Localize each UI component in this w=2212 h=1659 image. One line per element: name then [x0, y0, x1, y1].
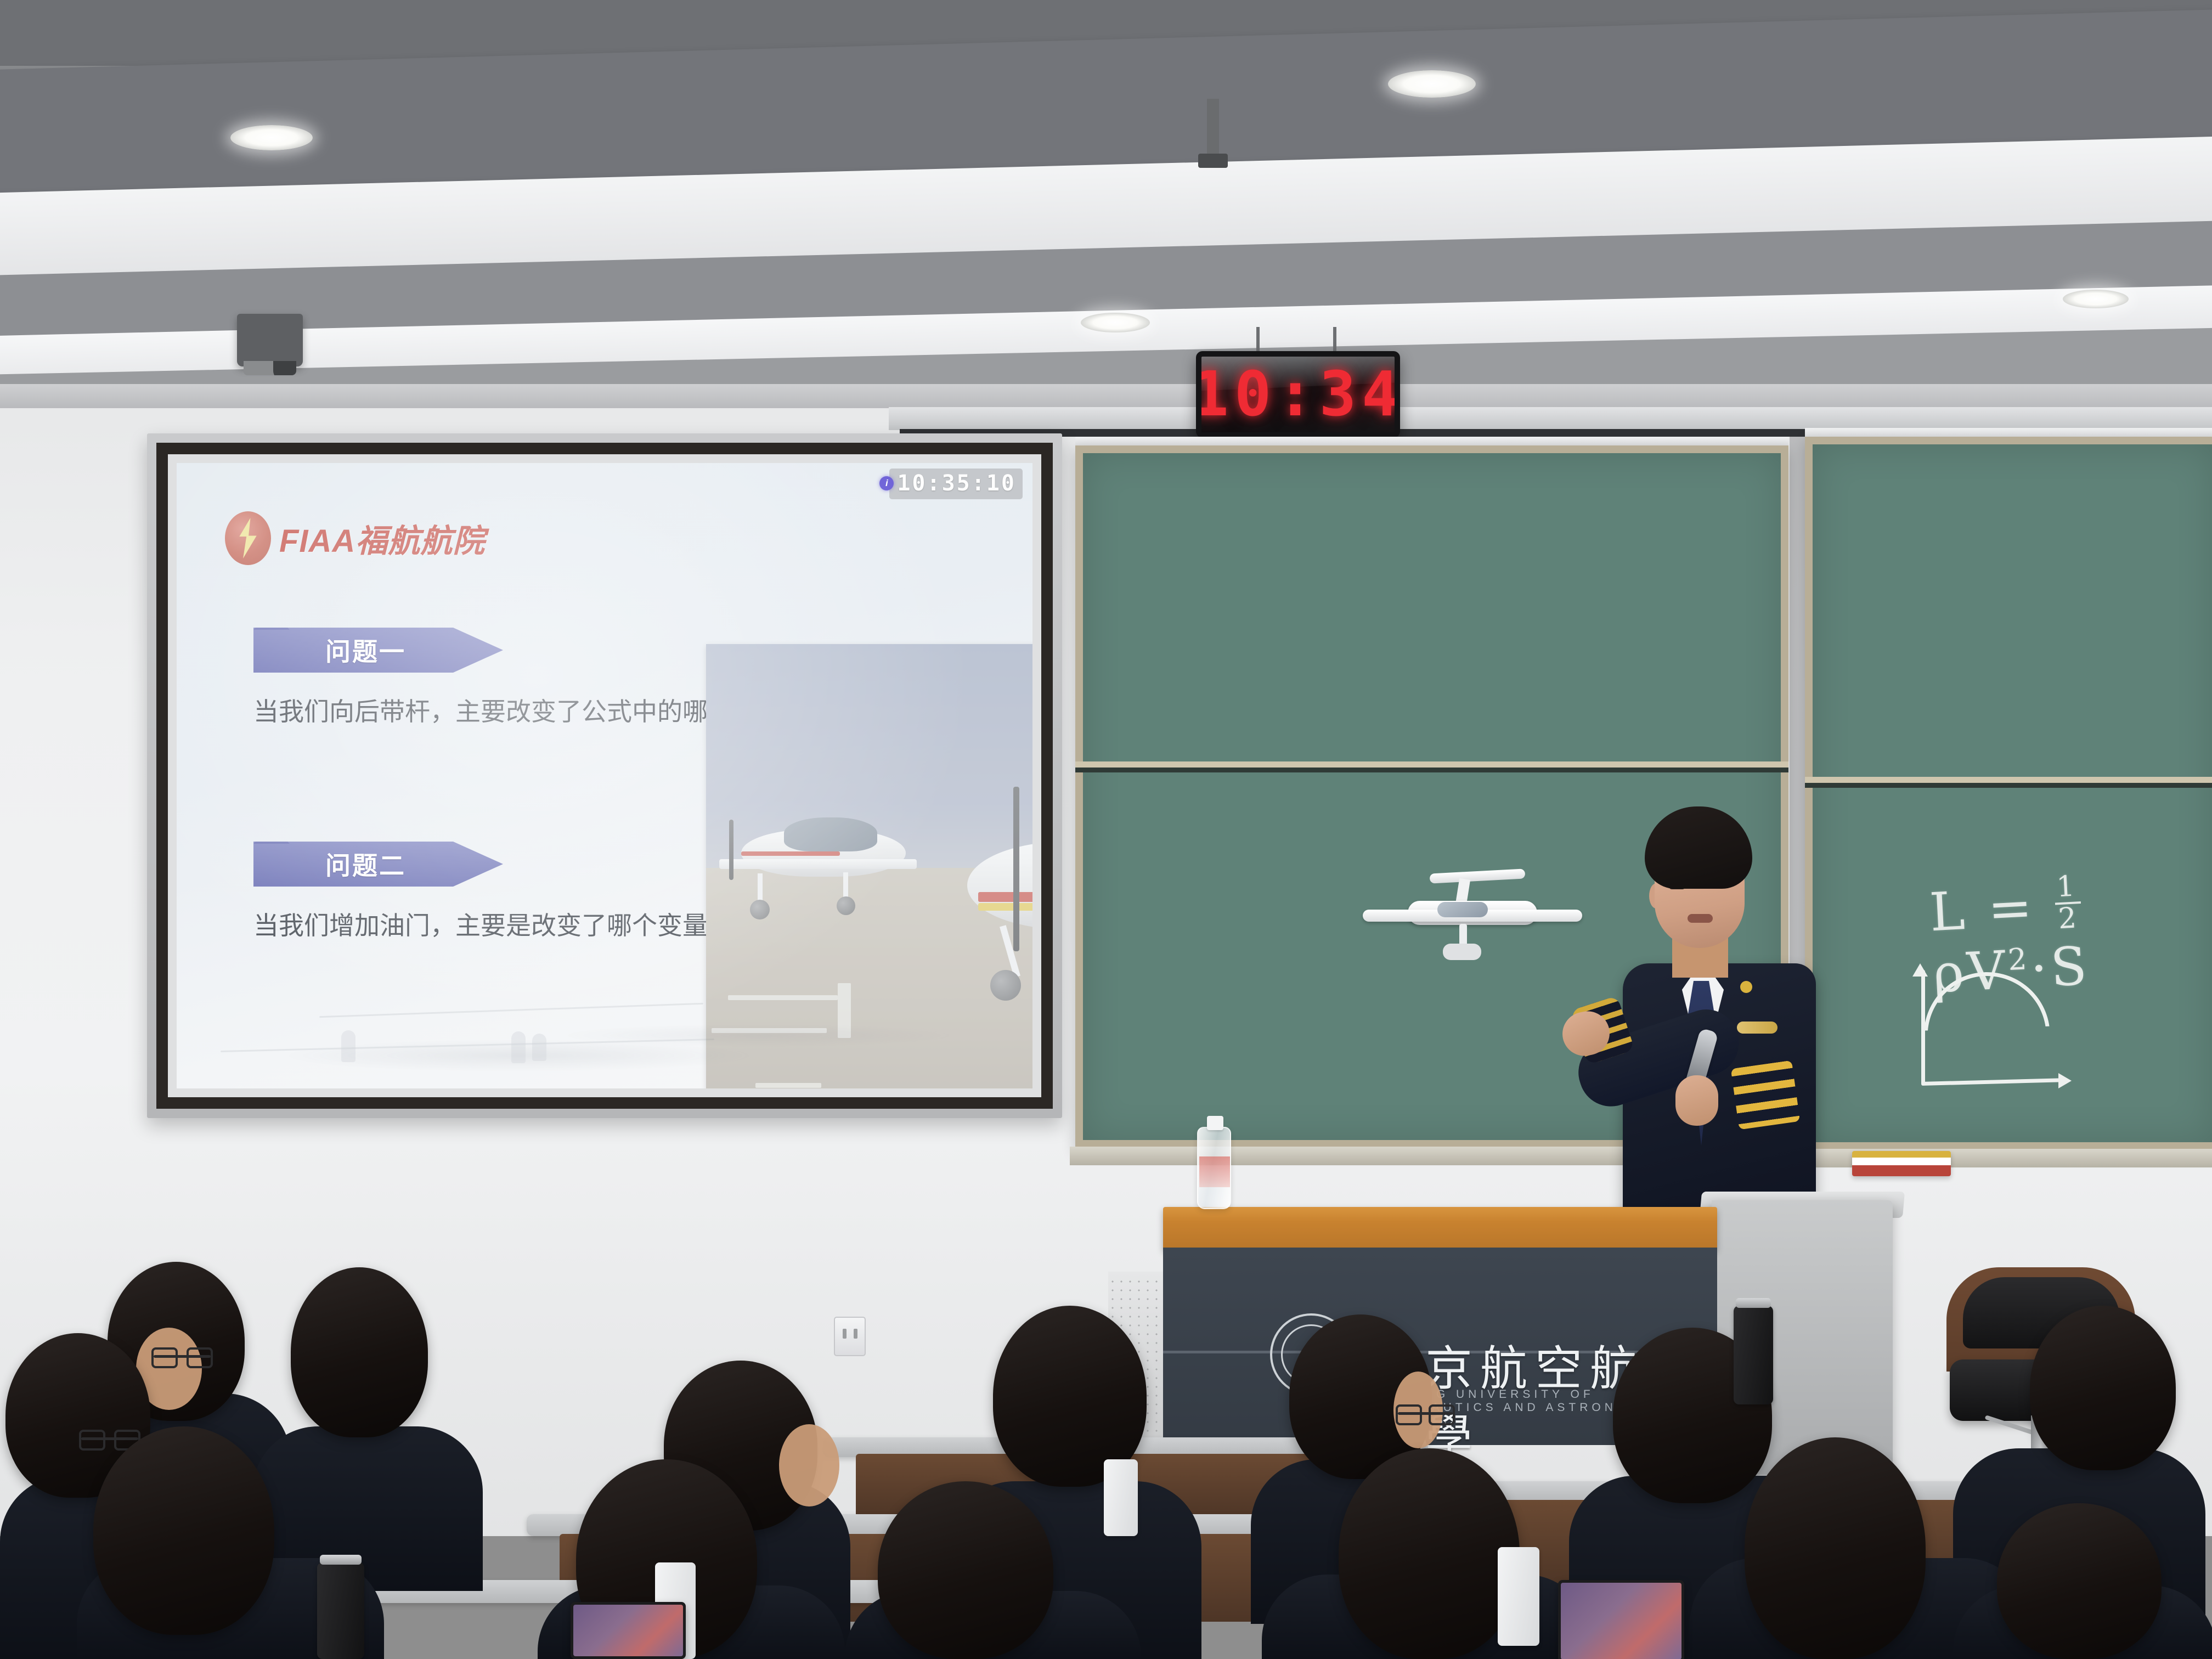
formula-velocity-exponent: 2: [2007, 941, 2031, 977]
book-stack: [1852, 1151, 1951, 1176]
wall-digital-clock: 10:34: [1196, 351, 1400, 438]
ceiling-downlight: [2063, 290, 2129, 308]
pilot-wings-badge-icon: [1737, 1022, 1778, 1034]
tablet-device[interactable]: [1558, 1580, 1684, 1659]
audience-head: [2030, 1306, 2176, 1470]
question-2-banner: 问题二: [253, 842, 503, 887]
eyeglasses: [154, 1355, 211, 1358]
banner-tab-icon: [253, 611, 290, 630]
audience-head: [291, 1267, 428, 1437]
water-bottle: [1498, 1547, 1539, 1646]
lecture-hall-photo: 10:34 i 10:35:10 FIAA福航航院: [0, 0, 2212, 1659]
screen-mat: i 10:35:10 FIAA福航航院 问题一: [168, 454, 1041, 1097]
thermos-bottle: [1734, 1306, 1773, 1404]
ceiling-downlight: [1081, 313, 1150, 332]
eyeglasses: [81, 1437, 138, 1440]
formula-denominator: 2: [2057, 901, 2080, 935]
fiaa-logo: FIAA福航航院: [225, 511, 485, 565]
podium-wood-top: [1163, 1207, 1717, 1250]
lightning-bolt-icon: [225, 511, 271, 565]
blackboard-right: [1805, 437, 2212, 1150]
formula-equals: =: [1987, 876, 2037, 940]
projector-ceiling-mount: [237, 314, 303, 366]
question-1-banner: 问题一: [253, 628, 503, 673]
audience-head: [1745, 1437, 1926, 1659]
slide-timer-badge-icon: i: [879, 476, 894, 490]
wall-ledge-right: [889, 407, 2212, 430]
eyeglasses: [1398, 1412, 1453, 1415]
water-bottle: [1104, 1459, 1138, 1536]
slide-timer: i 10:35:10: [889, 469, 1023, 499]
wall-clock-time: 10:34: [1201, 357, 1395, 432]
formula-numerator: 1: [2053, 872, 2081, 905]
audience-head: [1997, 1503, 2162, 1659]
ceiling-downlight: [230, 125, 313, 150]
thermos-bottle: [317, 1562, 364, 1659]
screen-frame: i 10:35:10 FIAA福航航院 问题一: [156, 443, 1053, 1109]
model-airplane: [1355, 867, 1585, 966]
wall-top-rail: [0, 384, 2212, 408]
formula-lhs: L: [1928, 880, 1970, 943]
formula-dot: ·: [2029, 937, 2052, 1000]
question-2-banner-label: 问题二: [325, 846, 431, 882]
captain-four-stripe-sleeve: [1731, 1060, 1800, 1130]
lapel-pin-icon: [1740, 981, 1752, 993]
ceiling-downlight: [1388, 70, 1476, 98]
tablet-device[interactable]: [571, 1602, 686, 1659]
slide-timer-value: 10:35:10: [897, 471, 1016, 496]
audience-head: [93, 1426, 274, 1635]
presenter-mouth: [1688, 914, 1713, 923]
wall-socket: [834, 1317, 866, 1356]
presentation-slide: i 10:35:10 FIAA福航航院 问题一: [177, 463, 1032, 1088]
projection-screen: i 10:35:10 FIAA福航航院 问题一: [147, 433, 1062, 1118]
water-bottle: [1197, 1127, 1231, 1209]
audience-head: [1339, 1448, 1520, 1659]
presenter-hand-holding-mic: [1675, 1075, 1718, 1126]
fiaa-logo-text: FIAA福航航院: [279, 515, 485, 561]
slide-background-sketch: [177, 962, 1032, 1088]
ceiling-sprinkler: [1207, 99, 1219, 165]
audience-face: [779, 1424, 839, 1506]
formula-half-fraction: 1 2: [2053, 872, 2083, 933]
banner-tab-icon: [253, 825, 290, 844]
question-1-banner-label: 问题一: [325, 632, 431, 668]
audience-head: [878, 1481, 1053, 1659]
formula-area: S: [2049, 935, 2092, 998]
presenter-pilot-instructor: [1575, 806, 1827, 1245]
presenter-hair: [1645, 806, 1752, 889]
